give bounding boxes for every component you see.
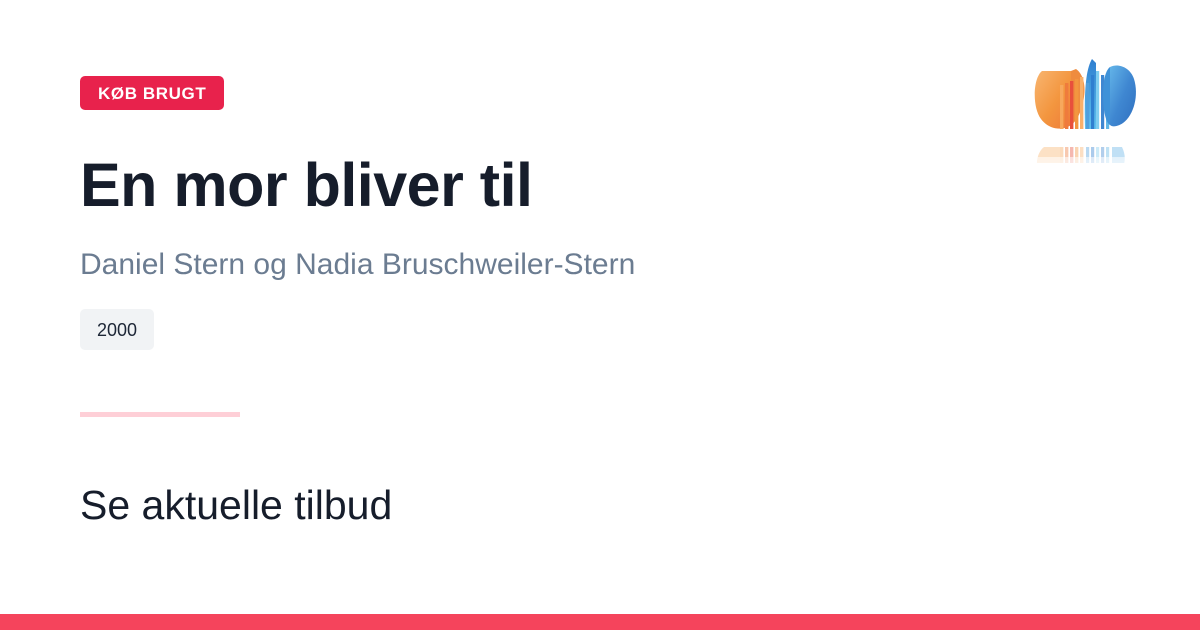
page-root: KØB BRUGT En mor bliver til Daniel Stern… (0, 0, 1200, 630)
page-title: En mor bliver til (80, 152, 533, 219)
bottom-accent-bar (0, 614, 1200, 630)
butterfly-wings-logo (1030, 45, 1148, 163)
buy-used-badge[interactable]: KØB BRUGT (80, 76, 224, 110)
section-divider (80, 412, 240, 417)
logo-wings (1035, 59, 1136, 129)
book-authors: Daniel Stern og Nadia Bruschweiler-Stern (80, 246, 635, 284)
see-current-offers-heading[interactable]: Se aktuelle tilbud (80, 481, 392, 530)
publication-year-chip: 2000 (80, 309, 154, 350)
